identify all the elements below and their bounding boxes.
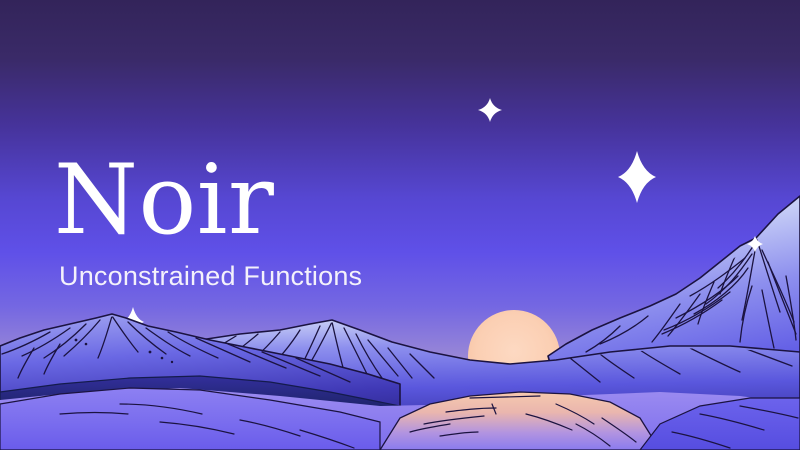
mountain-illustration xyxy=(0,0,800,450)
slide-canvas: Noir Unconstrained Functions xyxy=(0,0,800,450)
